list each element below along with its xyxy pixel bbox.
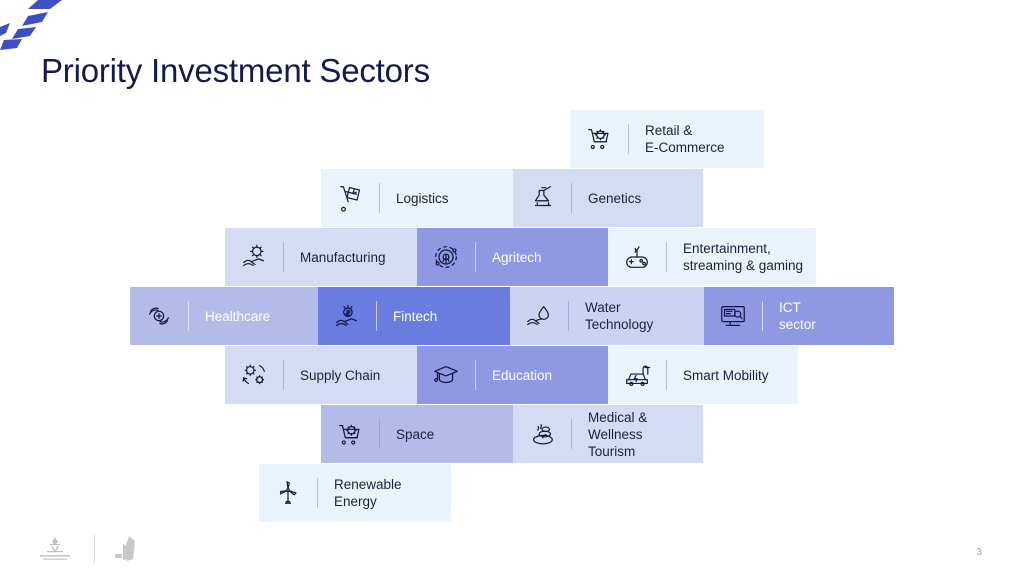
sector-tile-ict-sector[interactable]: ICT sector xyxy=(704,287,894,345)
sector-tile-renewable-energy[interactable]: Renewable Energy xyxy=(259,464,451,522)
sector-tile-logistics[interactable]: Logistics xyxy=(321,169,513,227)
satellite-cart-icon xyxy=(321,405,379,463)
tile-divider xyxy=(628,124,629,154)
page-title: Priority Investment Sectors xyxy=(41,52,430,90)
pyramid-row-5: SpaceMedical & Wellness Tourism xyxy=(0,405,1024,463)
tile-divider xyxy=(666,360,667,390)
tile-divider xyxy=(475,360,476,390)
secondary-partner-logo xyxy=(109,534,143,564)
sector-tile-label: Smart Mobility xyxy=(683,367,779,384)
sector-tile-smart-mobility[interactable]: Smart Mobility xyxy=(608,346,798,404)
tile-divider xyxy=(376,301,377,331)
sector-tile-education[interactable]: Education xyxy=(417,346,608,404)
sector-tile-manufacturing[interactable]: Manufacturing xyxy=(225,228,417,286)
tile-divider xyxy=(188,301,189,331)
hand-gear-icon xyxy=(225,228,283,286)
game-controller-icon xyxy=(608,228,666,286)
electric-car-charging-icon xyxy=(608,346,666,404)
tile-divider xyxy=(568,301,569,331)
pyramid-row-6: Renewable Energy xyxy=(0,464,1024,522)
pyramid-row-1: LogisticsGenetics xyxy=(0,169,1024,227)
sector-tile-genetics[interactable]: Genetics xyxy=(513,169,703,227)
sector-tile-label: Healthcare xyxy=(205,308,280,325)
blue-dash-arc-decoration xyxy=(0,0,90,60)
pyramid-row-3: HealthcareFintechWater TechnologyICT sec… xyxy=(0,287,1024,345)
tile-divider xyxy=(475,242,476,272)
sector-tile-label: Manufacturing xyxy=(300,249,396,266)
sector-tile-retail-e-commerce[interactable]: Retail & E-Commerce xyxy=(570,110,764,168)
sector-tile-water-technology[interactable]: Water Technology xyxy=(510,287,704,345)
sector-tile-label: Entertainment, streaming & gaming xyxy=(683,240,813,274)
tile-divider xyxy=(571,419,572,449)
hand-truck-icon xyxy=(321,169,379,227)
page-number: 3 xyxy=(976,547,982,558)
priority-sectors-pyramid: Retail & E-CommerceLogisticsGeneticsManu… xyxy=(0,110,1024,523)
tile-divider xyxy=(283,360,284,390)
sector-tile-label: ICT sector xyxy=(779,299,826,333)
sector-tile-label: Supply Chain xyxy=(300,367,390,384)
graduation-cap-icon xyxy=(417,346,475,404)
sector-tile-supply-chain[interactable]: Supply Chain xyxy=(225,346,417,404)
logo-divider xyxy=(94,535,95,563)
sector-tile-label: Renewable Energy xyxy=(334,476,412,510)
ministry-of-economy-logo xyxy=(30,534,80,564)
hand-water-drop-icon xyxy=(510,287,568,345)
footer-logos xyxy=(30,534,143,564)
sector-tile-label: Water Technology xyxy=(585,299,663,333)
tile-divider xyxy=(379,419,380,449)
pyramid-row-0: Retail & E-Commerce xyxy=(0,110,1024,168)
sector-tile-space[interactable]: Space xyxy=(321,405,513,463)
sector-tile-agritech[interactable]: Agritech xyxy=(417,228,608,286)
sector-tile-medical-wellness-tourism[interactable]: Medical & Wellness Tourism xyxy=(513,405,703,463)
wind-turbine-icon xyxy=(259,464,317,522)
pyramid-row-2: ManufacturingAgritechEntertainment, stre… xyxy=(0,228,1024,286)
tile-divider xyxy=(571,183,572,213)
desktop-monitor-icon xyxy=(704,287,762,345)
sector-tile-label: Retail & E-Commerce xyxy=(645,122,735,156)
lab-flask-microscope-icon xyxy=(513,169,571,227)
wheat-orbit-icon xyxy=(417,228,475,286)
sector-tile-label: Education xyxy=(492,367,562,384)
hand-coin-icon xyxy=(318,287,376,345)
tile-divider xyxy=(283,242,284,272)
sector-tile-label: Genetics xyxy=(588,190,651,207)
pyramid-row-4: Supply ChainEducationSmart Mobility xyxy=(0,346,1024,404)
sector-tile-label: Medical & Wellness Tourism xyxy=(588,409,703,460)
gears-cycle-icon xyxy=(225,346,283,404)
spa-stones-icon xyxy=(513,405,571,463)
tile-divider xyxy=(762,301,763,331)
sector-tile-fintech[interactable]: Fintech xyxy=(318,287,510,345)
sector-tile-healthcare[interactable]: Healthcare xyxy=(130,287,318,345)
sector-tile-entertainment-streaming-gaming[interactable]: Entertainment, streaming & gaming xyxy=(608,228,816,286)
tile-divider xyxy=(666,242,667,272)
sector-tile-label: Logistics xyxy=(396,190,459,207)
sector-tile-label: Space xyxy=(396,426,444,443)
tile-divider xyxy=(379,183,380,213)
tile-divider xyxy=(317,478,318,508)
shopping-cart-gear-icon xyxy=(570,110,628,168)
sector-tile-label: Fintech xyxy=(393,308,447,325)
hands-medical-cross-icon xyxy=(130,287,188,345)
sector-tile-label: Agritech xyxy=(492,249,552,266)
